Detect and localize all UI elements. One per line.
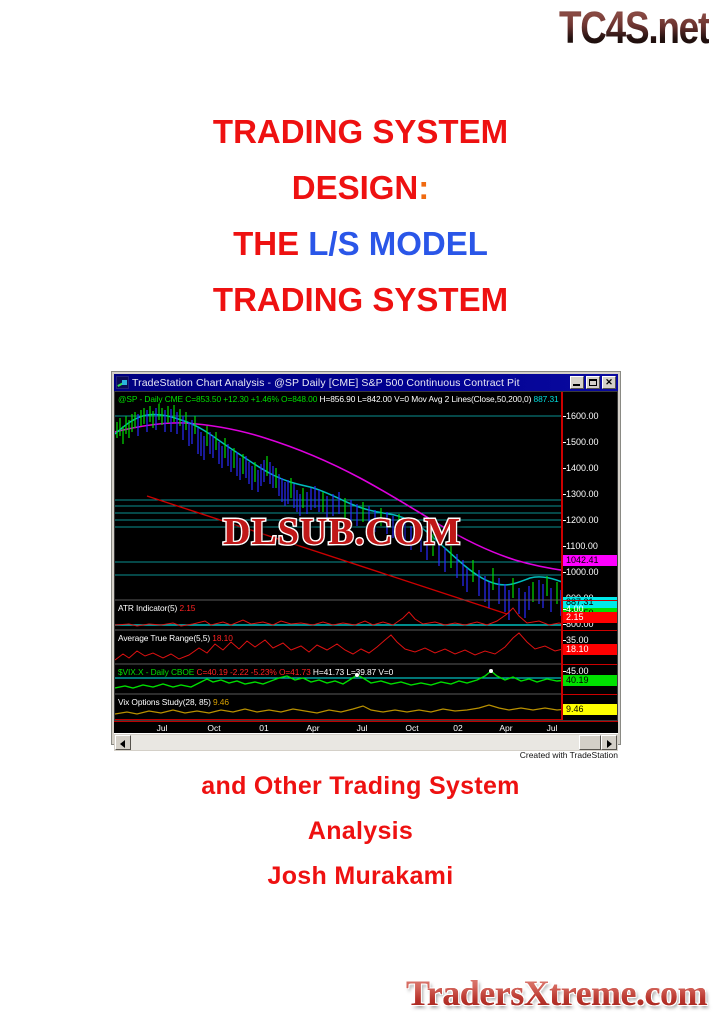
date-label-5: Oct [405, 723, 418, 733]
price-tick-1500: 1500.00 [566, 437, 599, 447]
axis-sep-3 [563, 664, 617, 665]
date-label-7: Apr [499, 723, 512, 733]
price-badge-ma200: 1042.41 [563, 555, 617, 566]
title-line-4: TRADING SYSTEM [0, 272, 721, 328]
price-tick-1200: 1200.00 [566, 515, 599, 525]
title-line-2-colon: : [418, 169, 429, 206]
created-with-note: Created with TradeStation [520, 750, 618, 760]
date-label-1: Oct [207, 723, 220, 733]
tradestation-chart-window: TradeStation Chart Analysis - @SP Daily … [112, 372, 620, 744]
scroll-right-arrow-icon[interactable] [601, 735, 617, 750]
price-tick-1600: 1600.00 [566, 411, 599, 421]
date-label-4: Jul [357, 723, 368, 733]
close-button[interactable]: ✕ [602, 376, 616, 389]
average-true-range-label: Average True Range(5,5) 18.10 [118, 633, 233, 643]
cover-subtitle-block: and Other Trading System Analysis Josh M… [0, 764, 721, 899]
price-tick-1000: 1000.00 [566, 567, 599, 577]
title-line-3-blue: L/S MODEL [308, 225, 488, 262]
subtitle-line-1: and Other Trading System [0, 764, 721, 809]
date-label-2: 01 [259, 723, 268, 733]
date-axis: Jul Oct 01 Apr Jul Oct 02 Apr Jul [114, 721, 618, 733]
scrollbar-thumb[interactable] [579, 735, 601, 750]
horizontal-scrollbar[interactable] [114, 733, 618, 751]
scrollbar-track[interactable] [131, 735, 601, 750]
date-label-6: 02 [453, 723, 462, 733]
date-label-8: Jul [547, 723, 558, 733]
tradestation-app-icon [116, 376, 129, 389]
atr-range-badge: 18.10 [563, 644, 617, 655]
subtitle-line-2: Analysis [0, 809, 721, 854]
minimize-button[interactable] [570, 376, 584, 389]
chart-canvas[interactable]: @SP - Daily CME C=853.50 +12.30 +1.46% O… [114, 391, 618, 721]
price-tick-1300: 1300.00 [566, 489, 599, 499]
brand-logo-top: TC4S.net [559, 2, 709, 54]
price-axis[interactable]: 1600.00 1500.00 1400.00 1300.00 1200.00 … [561, 392, 617, 721]
vix-quote-line: $VIX.X - Daily CBOE C=40.19 -2.22 -5.23%… [118, 667, 393, 677]
scroll-left-arrow-icon[interactable] [115, 735, 131, 750]
atr-badge: 2.15 [563, 612, 617, 623]
title-line-1: TRADING SYSTEM [0, 104, 721, 160]
title-line-2-text: DESIGN [292, 169, 419, 206]
window-title-text: TradeStation Chart Analysis - @SP Daily … [132, 377, 570, 389]
axis-sep-1 [563, 600, 617, 601]
title-line-2: DESIGN: [0, 160, 721, 216]
window-buttons: ✕ [570, 376, 616, 389]
atr-indicator-label: ATR Indicator(5) 2.15 [118, 603, 195, 613]
price-tick-1400: 1400.00 [566, 463, 599, 473]
brand-logo-bottom: TradersXtreme.com [406, 972, 707, 1014]
date-label-0: Jul [157, 723, 168, 733]
window-titlebar[interactable]: TradeStation Chart Analysis - @SP Daily … [114, 374, 618, 391]
title-line-3: THE L/S MODEL [0, 216, 721, 272]
vix-badge: 40.19 [563, 675, 617, 686]
author-name: Josh Murakami [0, 854, 721, 899]
date-label-3: Apr [306, 723, 319, 733]
title-line-3-red: THE [233, 225, 308, 262]
axis-sep-4 [563, 694, 617, 695]
watermark-text: DLSUB.COM [223, 510, 461, 554]
vix-options-study-label: Vix Options Study(28, 85) 9.46 [118, 697, 229, 707]
price-tick-1100: 1100.00 [566, 541, 598, 551]
axis-sep-2 [563, 630, 617, 631]
price-quote-line: @SP - Daily CME C=853.50 +12.30 +1.46% O… [118, 394, 568, 404]
maximize-button[interactable] [586, 376, 600, 389]
cover-title-block: TRADING SYSTEM DESIGN: THE L/S MODEL TRA… [0, 104, 721, 328]
vix-options-badge: 9.46 [563, 704, 617, 715]
